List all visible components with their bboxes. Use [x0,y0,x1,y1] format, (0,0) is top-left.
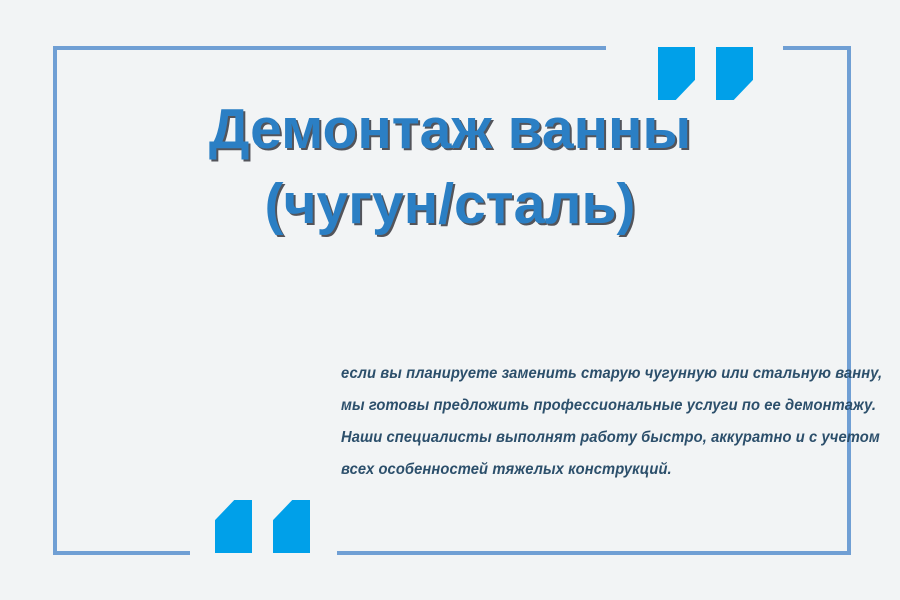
body-paragraph-line-3: Наши специалисты выполнят работу быстро,… [341,422,788,454]
quote-mark-opening-icon [273,500,310,553]
body-paragraph: если вы планируете заменить старую чугун… [341,358,811,486]
body-paragraph-line-2: мы готовы предложить профессиональные ус… [341,390,788,422]
slide-canvas: Демонтаж ванны (чугун/сталь) если вы пла… [0,0,900,600]
frame-border-top-left [53,46,606,50]
body-paragraph-line-1: если вы планируете заменить старую чугун… [341,358,788,390]
page-title-line-2: (чугун/сталь) [53,167,847,242]
body-paragraph-line-4: всех особенностей тяжелых конструкций. [341,454,788,486]
frame-border-bottom-right [337,551,851,555]
frame-border-right [847,46,851,555]
frame-border-bottom-left [53,551,190,555]
page-title-line-1: Демонтаж ванны [53,92,847,167]
page-title: Демонтаж ванны (чугун/сталь) [53,92,847,242]
quote-marks-bottom-left [215,500,310,553]
frame-border-top-right [783,46,851,50]
quote-mark-opening-icon [215,500,252,553]
